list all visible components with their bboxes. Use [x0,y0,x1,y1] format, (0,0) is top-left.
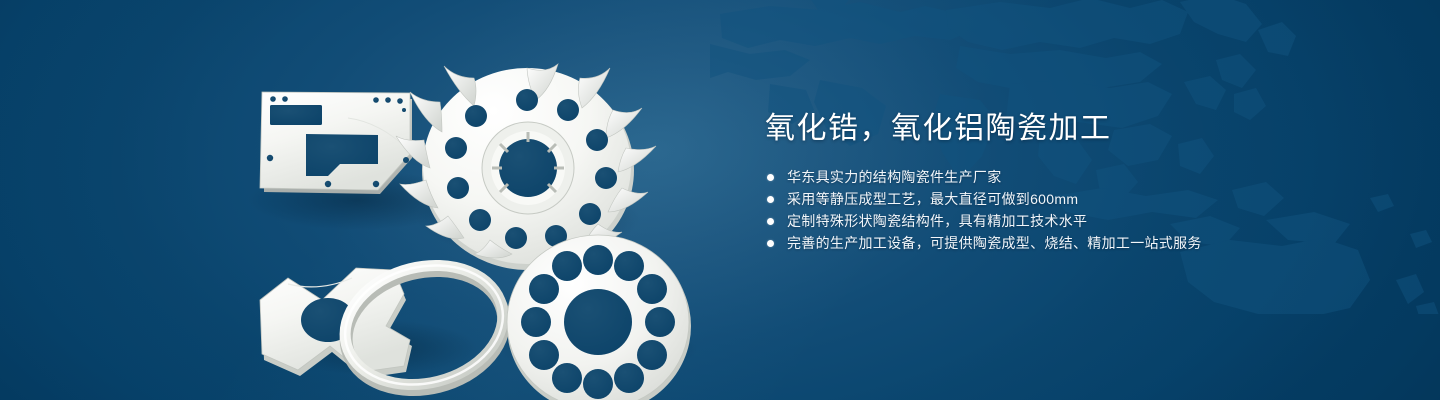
list-item: 采用等静压成型工艺，最大直径可做到600mm [765,188,1325,210]
plate-cutout-small [270,105,322,125]
bullet-dot-icon [767,218,774,225]
page-title: 氧化锆，氧化铝陶瓷加工 [765,108,1325,150]
hero-banner: 氧化锆，氧化铝陶瓷加工 华东具实力的结构陶瓷件生产厂家 采用等静压成型工艺，最大… [0,0,1440,400]
feature-text: 完善的生产加工设备，可提供陶瓷成型、烧结、精加工一站式服务 [787,232,1202,254]
rotor-hub [482,122,574,214]
list-item: 完善的生产加工设备，可提供陶瓷成型、烧结、精加工一站式服务 [765,232,1325,254]
list-item: 定制特殊形状陶瓷结构件，具有精加工技术水平 [765,210,1325,232]
feature-list: 华东具实力的结构陶瓷件生产厂家 采用等静压成型工艺，最大直径可做到600mm 定… [765,166,1325,254]
product-photo-group [228,48,708,378]
bullet-dot-icon [767,240,774,247]
ceramic-flat-plate [260,92,412,194]
list-item: 华东具实力的结构陶瓷件生产厂家 [765,166,1325,188]
bullet-dot-icon [767,196,774,203]
feature-text: 华东具实力的结构陶瓷件生产厂家 [787,166,1002,188]
bullet-dot-icon [767,174,774,181]
disc-center-bore [564,289,632,355]
feature-text: 定制特殊形状陶瓷结构件，具有精加工技术水平 [787,210,1087,232]
feature-text: 采用等静压成型工艺，最大直径可做到600mm [787,188,1078,210]
ceramic-perforated-disc [507,235,691,400]
banner-copy: 氧化锆，氧化铝陶瓷加工 华东具实力的结构陶瓷件生产厂家 采用等静压成型工艺，最大… [765,108,1325,254]
